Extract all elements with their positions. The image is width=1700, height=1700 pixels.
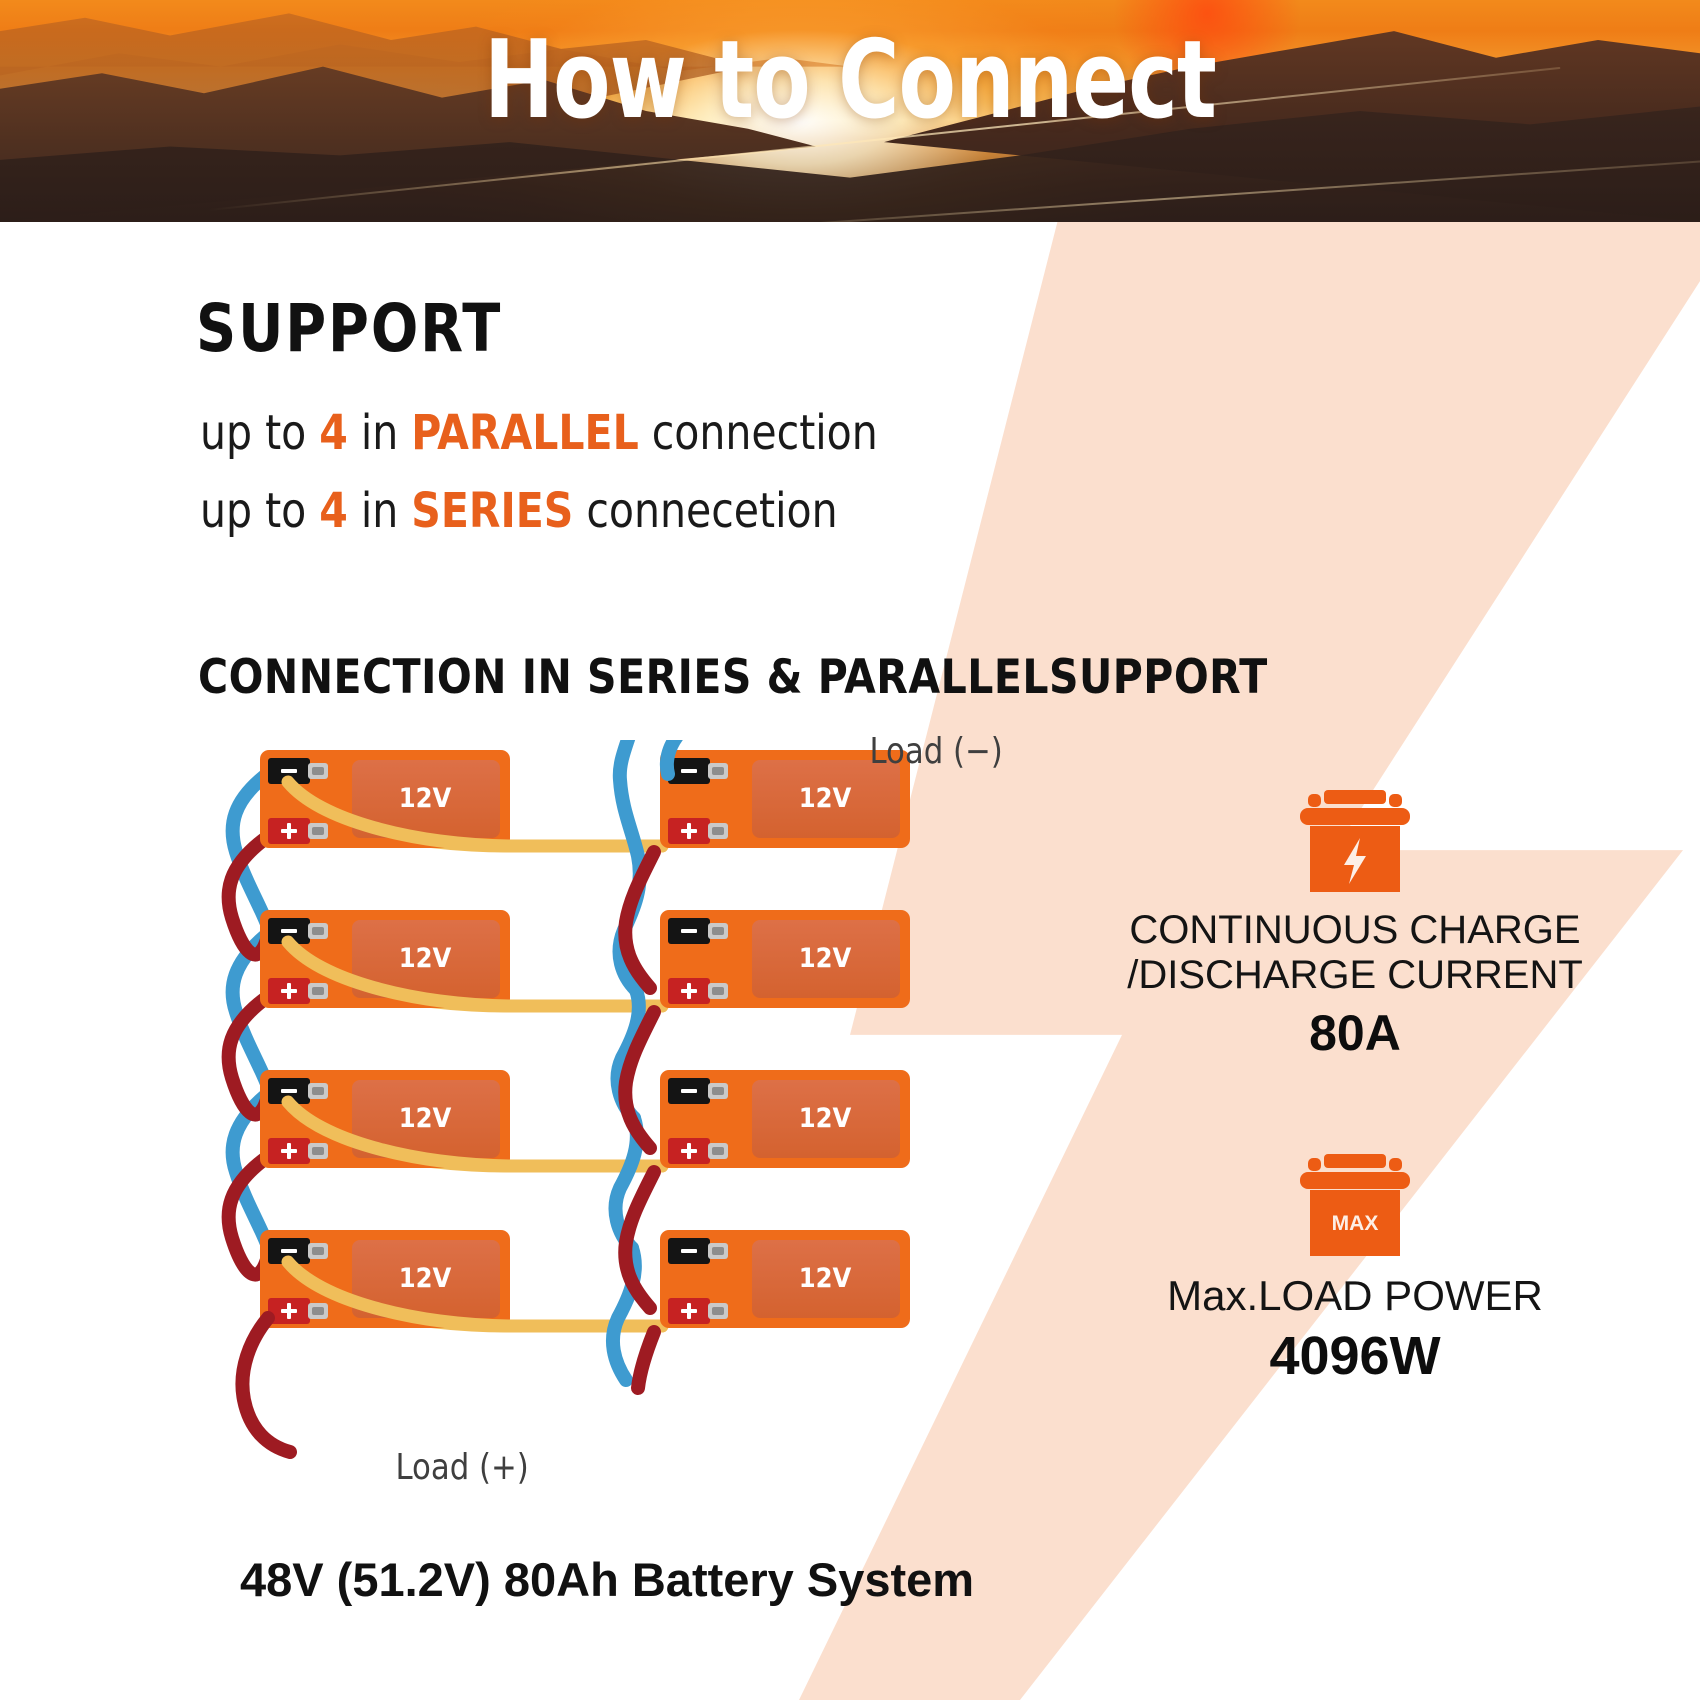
support-line-series-count: 4: [319, 483, 348, 539]
support-heading: SUPPORT: [196, 290, 502, 367]
battery-label: 12V: [799, 1103, 852, 1134]
battery-label: 12V: [399, 1263, 452, 1294]
support-line-parallel-suffix: connection: [639, 405, 878, 461]
infographic-page: How to Connect SUPPORT up to 4 in PARALL…: [0, 0, 1700, 1700]
support-line-series-suffix: connecetion: [573, 483, 837, 539]
battery-wiring-diagram: 12V 12V 12V 12V: [210, 740, 1010, 1500]
spec-value-max-load-power: 4096W: [1090, 1325, 1620, 1387]
support-line-series-mode: SERIES: [411, 483, 573, 539]
support-line-parallel: up to 4 in PARALLEL connection: [200, 405, 878, 461]
battery-label: 12V: [799, 1263, 852, 1294]
battery-max-icon-text: MAX: [1332, 1212, 1379, 1235]
system-caption: 48V (51.2V) 80Ah Battery System: [240, 1552, 974, 1607]
spec-continuous-current: CONTINUOUS CHARGE /DISCHARGE CURRENT 80A: [1090, 790, 1620, 1062]
spec-label-continuous-current: CONTINUOUS CHARGE /DISCHARGE CURRENT: [1090, 908, 1620, 998]
battery-right-2: 12V: [660, 910, 910, 1008]
load-negative-label: Load (−): [870, 732, 1003, 772]
support-line-parallel-mid: in: [348, 405, 411, 461]
battery-label: 12V: [799, 783, 852, 814]
battery-max-icon: MAX: [1294, 1154, 1416, 1262]
support-line-parallel-count: 4: [319, 405, 348, 461]
battery-bolt-icon: [1294, 790, 1416, 898]
load-positive-label: Load (+): [396, 1448, 529, 1488]
spec-label-max-load-power: Max.LOAD POWER: [1090, 1272, 1620, 1319]
support-line-series: up to 4 in SERIES connecetion: [200, 483, 838, 539]
support-line-parallel-mode: PARALLEL: [411, 405, 638, 461]
spec-column: CONTINUOUS CHARGE /DISCHARGE CURRENT 80A…: [1090, 790, 1620, 1437]
support-line-series-prefix: up to: [200, 483, 319, 539]
support-line-parallel-prefix: up to: [200, 405, 319, 461]
support-line-series-mid: in: [348, 483, 411, 539]
battery-label: 12V: [799, 943, 852, 974]
battery-label: 12V: [399, 943, 452, 974]
battery-right-3: 12V: [660, 1070, 910, 1168]
load-positive-lead: [242, 1318, 290, 1452]
battery-label: 12V: [399, 783, 452, 814]
spec-max-load-power: MAX Max.LOAD POWER 4096W: [1090, 1154, 1620, 1387]
section-heading: CONNECTION IN SERIES & PARALLELSUPPORT: [198, 650, 1268, 705]
battery-right-4: 12V: [660, 1230, 910, 1328]
spec-value-continuous-current: 80A: [1090, 1004, 1620, 1062]
battery-label: 12V: [399, 1103, 452, 1134]
